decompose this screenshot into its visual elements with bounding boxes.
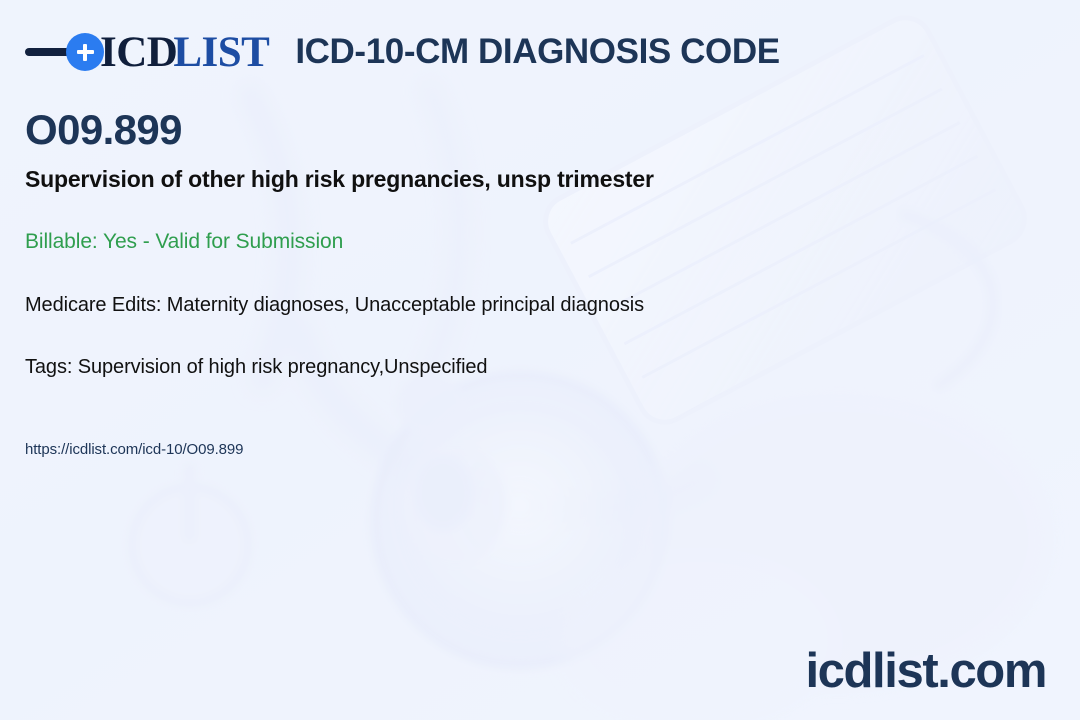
code-details: O09.899 Supervision of other high risk p… <box>25 108 654 458</box>
logo-word-list: LIST <box>173 31 269 74</box>
tags-line: Tags: Supervision of high risk pregnancy… <box>25 356 654 379</box>
icdlist-logo[interactable]: ICD LIST <box>25 31 269 74</box>
diagnosis-code: O09.899 <box>25 108 654 152</box>
plus-icon <box>66 33 104 71</box>
medicare-edits: Medicare Edits: Maternity diagnoses, Una… <box>25 294 654 317</box>
header: ICD LIST ICD-10-CM DIAGNOSIS CODE <box>25 26 780 78</box>
page-title: ICD-10-CM DIAGNOSIS CODE <box>295 32 779 72</box>
source-url[interactable]: https://icdlist.com/icd-10/O09.899 <box>25 441 654 458</box>
icd-code-card: ICD LIST ICD-10-CM DIAGNOSIS CODE O09.89… <box>0 0 1080 720</box>
diagnosis-description: Supervision of other high risk pregnanci… <box>25 166 654 193</box>
billable-status: Billable: Yes - Valid for Submission <box>25 230 654 254</box>
footer-brand[interactable]: icdlist.com <box>805 647 1046 696</box>
logo-word-icd: ICD <box>100 31 177 74</box>
